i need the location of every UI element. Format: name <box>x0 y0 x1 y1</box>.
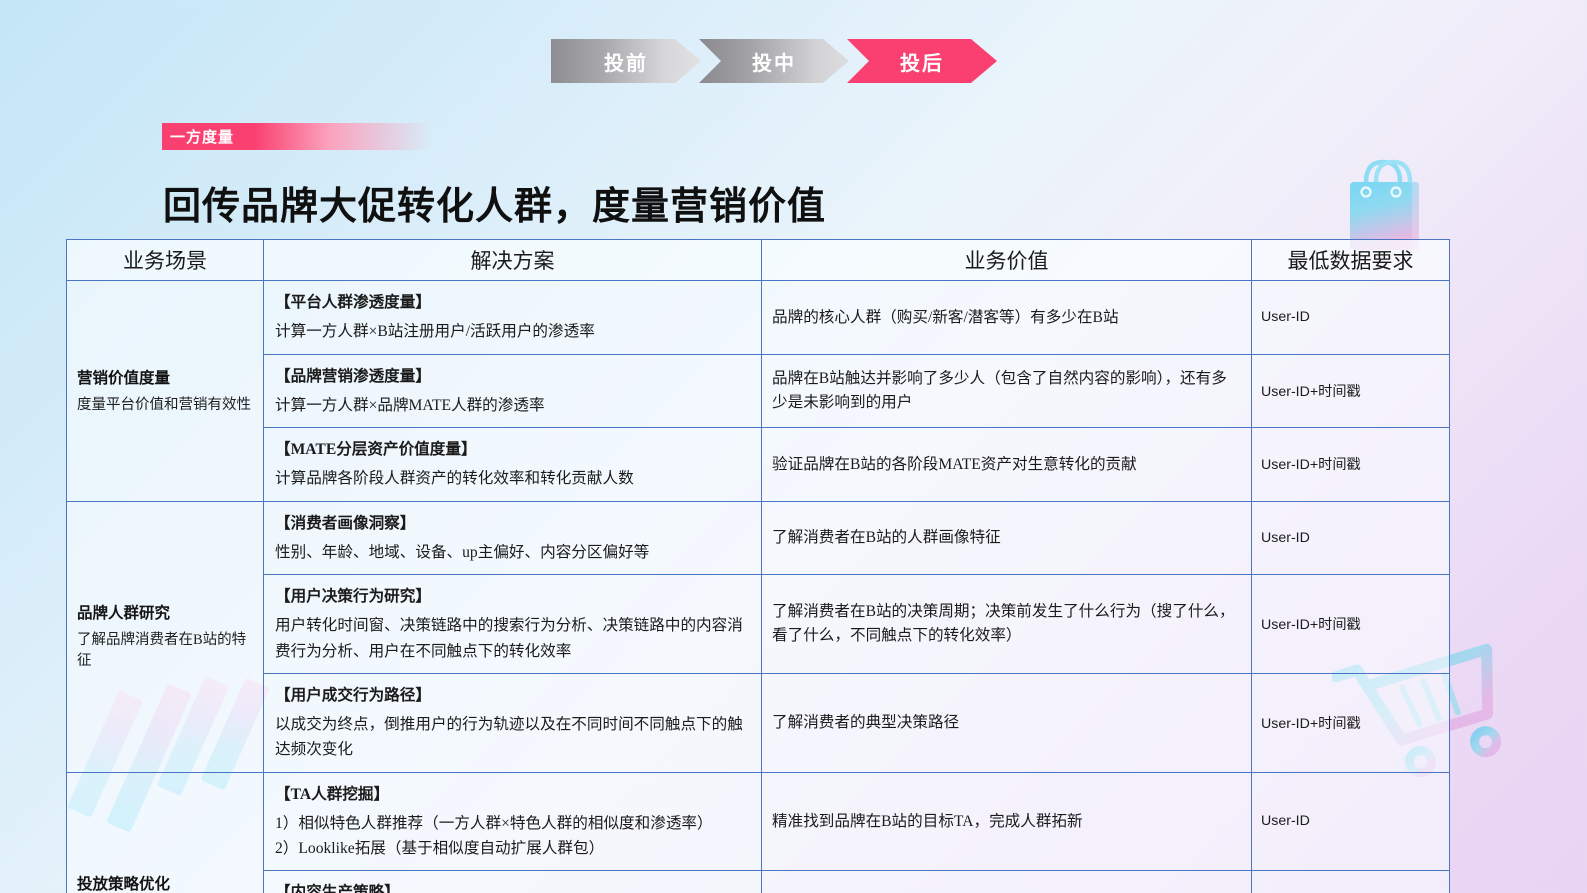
solution-detail: 计算一方人群×品牌MATE人群的渗透率 <box>275 393 752 418</box>
table-row: 投放策略优化 基于一方数据洞察后的人群×内容×达人优化策略 【TA人群挖掘】 1… <box>67 772 1450 871</box>
process-step-breadcrumb: 投前 投中 投后 <box>551 39 995 83</box>
requirement-cell: User-ID+时间戳 <box>1252 354 1450 428</box>
table-row: 营销价值度量 度量平台价值和营销有效性 【平台人群渗透度量】 计算一方人群×B站… <box>67 281 1450 355</box>
solution-cell: 【消费者画像洞察】 性别、年龄、地域、设备、up主偏好、内容分区偏好等 <box>264 501 762 575</box>
value-cell: 品牌在B站触达并影响了多少人（包含了自然内容的影响），还有多少是未影响到的用户 <box>762 354 1252 428</box>
requirement-cell: User-ID <box>1252 772 1450 871</box>
solution-heading: 【TA人群挖掘】 <box>275 782 752 807</box>
requirement-cell: User-ID <box>1252 281 1450 355</box>
step-label: 投前 <box>604 47 648 76</box>
scenario-title: 营销价值度量 <box>77 366 255 388</box>
solution-detail: 1）相似特色人群推荐（一方人群×特色人群的相似度和渗透率） <box>275 811 752 836</box>
solution-cell: 【内容生产策略】 区分高种草效率和高转化效率的稿件，并分析其内容创意要素（包括形… <box>264 871 762 893</box>
solution-heading: 【平台人群渗透度量】 <box>275 290 752 315</box>
page-title: 回传品牌大促转化人群，度量营销价值 <box>163 175 826 230</box>
solution-cell: 【TA人群挖掘】 1）相似特色人群推荐（一方人群×特色人群的相似度和渗透率） 2… <box>264 772 762 871</box>
table-row: 品牌人群研究 了解品牌消费者在B站的特征 【消费者画像洞察】 性别、年龄、地域、… <box>67 501 1450 575</box>
scenario-cell-delivery-strategy: 投放策略优化 基于一方数据洞察后的人群×内容×达人优化策略 <box>67 772 264 893</box>
solution-cell: 【MATE分层资产价值度量】 计算品牌各阶段人群资产的转化效率和转化贡献人数 <box>264 428 762 502</box>
table-header-row: 业务场景 解决方案 业务价值 最低数据要求 <box>67 240 1450 281</box>
solution-detail: 计算一方人群×B站注册用户/活跃用户的渗透率 <box>275 319 752 344</box>
solution-cell: 【品牌营销渗透度量】 计算一方人群×品牌MATE人群的渗透率 <box>264 354 762 428</box>
solution-cell: 【平台人群渗透度量】 计算一方人群×B站注册用户/活跃用户的渗透率 <box>264 281 762 355</box>
section-badge-label: 一方度量 <box>162 126 234 147</box>
step-pre-campaign[interactable]: 投前 <box>551 39 701 83</box>
col-header-solution: 解决方案 <box>264 240 762 281</box>
scenario-title: 品牌人群研究 <box>77 601 255 623</box>
scenario-cell-marketing-value: 营销价值度量 度量平台价值和营销有效性 <box>67 281 264 502</box>
table-row: 【用户成交行为路径】 以成交为终点，倒推用户的行为轨迹以及在不同时间不同触点下的… <box>67 673 1450 772</box>
requirement-cell: User-ID+时间戳 <box>1252 871 1450 893</box>
requirement-cell: User-ID+时间戳 <box>1252 428 1450 502</box>
value-cell: 定位高种草率和高转化率的稿件，并基于不同业务目标（种草or转化），优化稿件生产策… <box>762 871 1252 893</box>
value-cell: 验证品牌在B站的各阶段MATE资产对生意转化的贡献 <box>762 428 1252 502</box>
value-cell: 了解消费者在B站的决策周期；决策前发生了什么行为（搜了什么，看了什么，不同触点下… <box>762 575 1252 674</box>
step-label: 投中 <box>752 47 796 76</box>
col-header-value: 业务价值 <box>762 240 1252 281</box>
solution-heading: 【用户决策行为研究】 <box>275 584 752 609</box>
scenario-subtitle: 了解品牌消费者在B站的特征 <box>77 630 255 671</box>
scenario-subtitle: 度量平台价值和营销有效性 <box>77 395 255 416</box>
requirement-cell: User-ID <box>1252 501 1450 575</box>
solution-detail: 用户转化时间窗、决策链路中的搜索行为分析、决策链路中的内容消费行为分析、用户在不… <box>275 613 752 664</box>
solution-cell: 【用户成交行为路径】 以成交为终点，倒推用户的行为轨迹以及在不同时间不同触点下的… <box>264 673 762 772</box>
solution-detail: 2）Looklike拓展（基于相似度自动扩展人群包） <box>275 836 752 861</box>
value-cell: 了解消费者在B站的人群画像特征 <box>762 501 1252 575</box>
requirement-cell: User-ID+时间戳 <box>1252 673 1450 772</box>
table-row: 【MATE分层资产价值度量】 计算品牌各阶段人群资产的转化效率和转化贡献人数 验… <box>67 428 1450 502</box>
solution-heading: 【内容生产策略】 <box>275 880 752 893</box>
requirement-cell: User-ID+时间戳 <box>1252 575 1450 674</box>
solution-heading: 【品牌营销渗透度量】 <box>275 364 752 389</box>
table-row: 【品牌营销渗透度量】 计算一方人群×品牌MATE人群的渗透率 品牌在B站触达并影… <box>67 354 1450 428</box>
value-cell: 了解消费者的典型决策路径 <box>762 673 1252 772</box>
col-header-requirement: 最低数据要求 <box>1252 240 1450 281</box>
capability-table: 业务场景 解决方案 业务价值 最低数据要求 营销价值度量 度量平台价值和营销有效… <box>66 239 1450 893</box>
table-row: 【内容生产策略】 区分高种草效率和高转化效率的稿件，并分析其内容创意要素（包括形… <box>67 871 1450 893</box>
solution-detail: 计算品牌各阶段人群资产的转化效率和转化贡献人数 <box>275 466 752 491</box>
step-mid-campaign[interactable]: 投中 <box>699 39 849 83</box>
solution-heading: 【用户成交行为路径】 <box>275 683 752 708</box>
capability-matrix: 业务场景 解决方案 业务价值 最低数据要求 营销价值度量 度量平台价值和营销有效… <box>66 239 1449 893</box>
step-label: 投后 <box>900 47 944 76</box>
scenario-cell-audience-research: 品牌人群研究 了解品牌消费者在B站的特征 <box>67 501 264 772</box>
solution-heading: 【消费者画像洞察】 <box>275 511 752 536</box>
solution-heading: 【MATE分层资产价值度量】 <box>275 437 752 462</box>
value-cell: 精准找到品牌在B站的目标TA，完成人群拓新 <box>762 772 1252 871</box>
col-header-scenario: 业务场景 <box>67 240 264 281</box>
solution-detail: 以成交为终点，倒推用户的行为轨迹以及在不同时间不同触点下的触达频次变化 <box>275 712 752 763</box>
step-post-campaign[interactable]: 投后 <box>847 39 997 83</box>
solution-cell: 【用户决策行为研究】 用户转化时间窗、决策链路中的搜索行为分析、决策链路中的内容… <box>264 575 762 674</box>
section-badge: 一方度量 <box>162 123 432 150</box>
table-row: 【用户决策行为研究】 用户转化时间窗、决策链路中的搜索行为分析、决策链路中的内容… <box>67 575 1450 674</box>
value-cell: 品牌的核心人群（购买/新客/潜客等）有多少在B站 <box>762 281 1252 355</box>
solution-detail: 性别、年龄、地域、设备、up主偏好、内容分区偏好等 <box>275 540 752 565</box>
scenario-title: 投放策略优化 <box>77 872 255 893</box>
